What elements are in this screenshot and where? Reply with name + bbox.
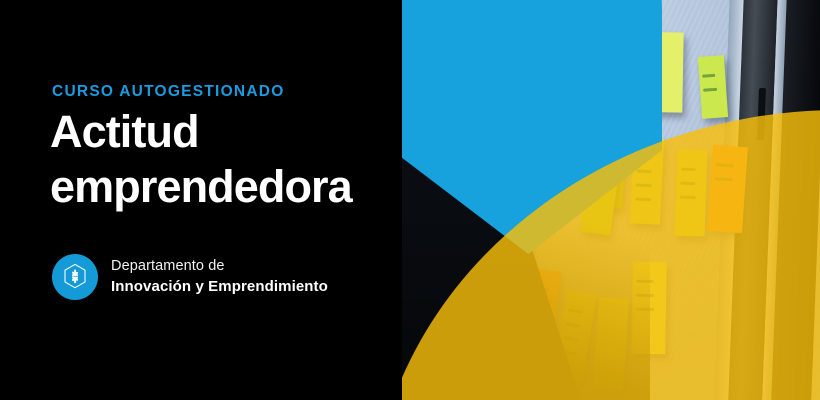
hexagon-flower-icon xyxy=(60,262,90,292)
sticky-notes-photo xyxy=(400,0,820,400)
page-title: Actitud emprendedora xyxy=(50,104,352,215)
sticky-note-ink xyxy=(703,88,717,92)
sticky-note-ink xyxy=(702,74,715,78)
department-brand: Departamento de Innovación y Emprendimie… xyxy=(52,254,328,300)
department-line-1: Departamento de xyxy=(111,257,328,276)
department-logo xyxy=(52,254,98,300)
department-line-2: Innovación y Emprendimiento xyxy=(111,277,328,297)
text-panel: CURSO AUTOGESTIONADO Actitud emprendedor… xyxy=(0,0,402,400)
sticky-note xyxy=(698,55,728,119)
department-name: Departamento de Innovación y Emprendimie… xyxy=(111,257,328,297)
course-kicker: CURSO AUTOGESTIONADO xyxy=(52,83,285,101)
course-banner: CURSO AUTOGESTIONADO Actitud emprendedor… xyxy=(0,0,820,400)
